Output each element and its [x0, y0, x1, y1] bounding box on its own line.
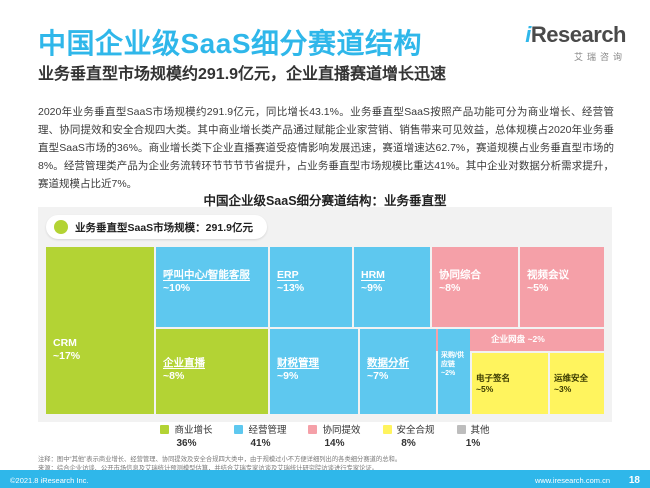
copyright-text: ©2021.8 iResearch Inc. [10, 476, 89, 485]
note-line-1: 注释：图中“其他”表示商业增长、经营管理、协同提效及安全合规四大类中，由于规模过… [38, 455, 614, 464]
legend-pct: 41% [250, 438, 270, 449]
node-crm-name: CRM [53, 337, 77, 349]
treemap-node-callcenter[interactable]: 呼叫中心/智能客服 ~10% [156, 247, 268, 327]
legend-pct: 36% [176, 438, 196, 449]
treemap-node-finance-tax[interactable]: 财税管理 ~9% [270, 329, 358, 414]
treemap-node-collaboration[interactable]: 协同综合 ~8% [432, 247, 518, 327]
legend-name: 商业增长 [174, 422, 212, 436]
legend-total-label: 业务垂直型SaaS市场规模：291.9亿元 [75, 220, 253, 235]
treemap-node-live-streaming[interactable]: 企业直播 ~8% [156, 329, 268, 414]
node-data-analytics-name: 数据分析 [367, 357, 409, 369]
page-number: 18 [629, 475, 640, 486]
treemap-node-videoconf[interactable]: 视频会议 ~5% [520, 247, 604, 327]
footer-bar: ©2021.8 iResearch Inc. www.iresearch.com… [0, 470, 650, 488]
legend-swatch-icon [234, 425, 243, 434]
node-hrm-name: HRM [361, 269, 385, 281]
legend-item-other: 其他 1% [457, 422, 490, 449]
legend-item-business-growth: 商业增长 36% [160, 422, 212, 449]
node-videoconf-name: 视频会议 [527, 269, 569, 281]
node-erp-name: ERP [277, 269, 299, 281]
legend-name: 其他 [471, 422, 490, 436]
legend-name: 安全合规 [397, 422, 435, 436]
treemap-node-data-analytics[interactable]: 数据分析 ~7% [360, 329, 436, 414]
legend-item-collaboration: 协同提效 14% [308, 422, 360, 449]
node-procurement-name: 采购/供应链 [441, 352, 464, 368]
legend-name: 协同提效 [322, 422, 360, 436]
slide-header: 中国企业级SaaS细分赛道结构 业务垂直型市场规模约291.9亿元，企业直播赛道… [0, 0, 650, 92]
node-callcenter-value: ~10% [163, 282, 190, 294]
legend-item-operations: 经营管理 41% [234, 422, 286, 449]
treemap-node-erp[interactable]: ERP ~13% [270, 247, 352, 327]
logo-research-text: Research [531, 22, 626, 47]
logo-chinese-text: 艾瑞咨询 [525, 50, 626, 63]
node-crm-value: ~17% [53, 350, 80, 362]
legend-pct: 8% [401, 438, 415, 449]
body-paragraph: 2020年业务垂直型SaaS市场规模约291.9亿元，同比增长43.1%。业务垂… [38, 103, 614, 193]
node-procurement-value: ~2% [441, 370, 455, 377]
node-live-streaming-name: 企业直播 [163, 357, 205, 369]
node-finance-tax-value: ~9% [277, 370, 298, 382]
page-title: 中国企业级SaaS细分赛道结构 [38, 22, 422, 62]
legend-swatch-icon [160, 425, 169, 434]
treemap-node-ops-security[interactable]: 运维安全 ~3% [550, 353, 604, 414]
node-videoconf-value: ~5% [527, 282, 548, 294]
node-finance-tax-name: 财税管理 [277, 357, 319, 369]
treemap-chart: 业务垂直型SaaS市场规模：291.9亿元 CRM ~17% 呼叫中心/智能客服… [38, 207, 612, 422]
legend-name: 经营管理 [248, 422, 286, 436]
page-subtitle: 业务垂直型市场规模约291.9亿元，企业直播赛道增长迅速 [38, 60, 446, 84]
treemap-node-hrm[interactable]: HRM ~9% [354, 247, 430, 327]
treemap-node-crm[interactable]: CRM ~17% [46, 247, 154, 414]
node-enterprise-drive-name: 企业网盘 [491, 334, 525, 344]
legend-swatch-icon [308, 425, 317, 434]
legend-total-pill: 业务垂直型SaaS市场规模：291.9亿元 [46, 215, 267, 239]
category-legend: 商业增长 36% 经营管理 41% 协同提效 14% 安全合规 8% [38, 422, 612, 456]
node-esign-name: 电子签名 [476, 373, 510, 383]
slide-page: 中国企业级SaaS细分赛道结构 业务垂直型市场规模约291.9亿元，企业直播赛道… [0, 0, 650, 488]
treemap-node-esign[interactable]: 电子签名 ~5% [472, 353, 548, 414]
legend-item-security: 安全合规 8% [383, 422, 435, 449]
legend-swatch-icon [457, 425, 466, 434]
node-ops-security-name: 运维安全 [554, 373, 588, 383]
legend-pct: 1% [466, 438, 480, 449]
node-live-streaming-value: ~8% [163, 370, 184, 382]
iresearch-logo: iResearch 艾瑞咨询 [525, 22, 626, 63]
node-hrm-value: ~9% [361, 282, 382, 294]
legend-swatch-icon [383, 425, 392, 434]
node-erp-value: ~13% [277, 282, 304, 294]
node-collaboration-value: ~8% [439, 282, 460, 294]
legend-dot-icon [54, 220, 68, 234]
node-data-analytics-value: ~7% [367, 370, 388, 382]
node-esign-value: ~5% [476, 384, 493, 394]
node-callcenter-name: 呼叫中心/智能客服 [163, 269, 250, 281]
node-ops-security-value: ~3% [554, 384, 571, 394]
treemap-node-procurement[interactable]: 采购/供应链 ~2% [438, 329, 470, 414]
node-collaboration-name: 协同综合 [439, 269, 481, 281]
node-enterprise-drive-value: ~2% [528, 334, 545, 344]
footer-url: www.iresearch.com.cn [535, 476, 610, 485]
legend-pct: 14% [324, 438, 344, 449]
